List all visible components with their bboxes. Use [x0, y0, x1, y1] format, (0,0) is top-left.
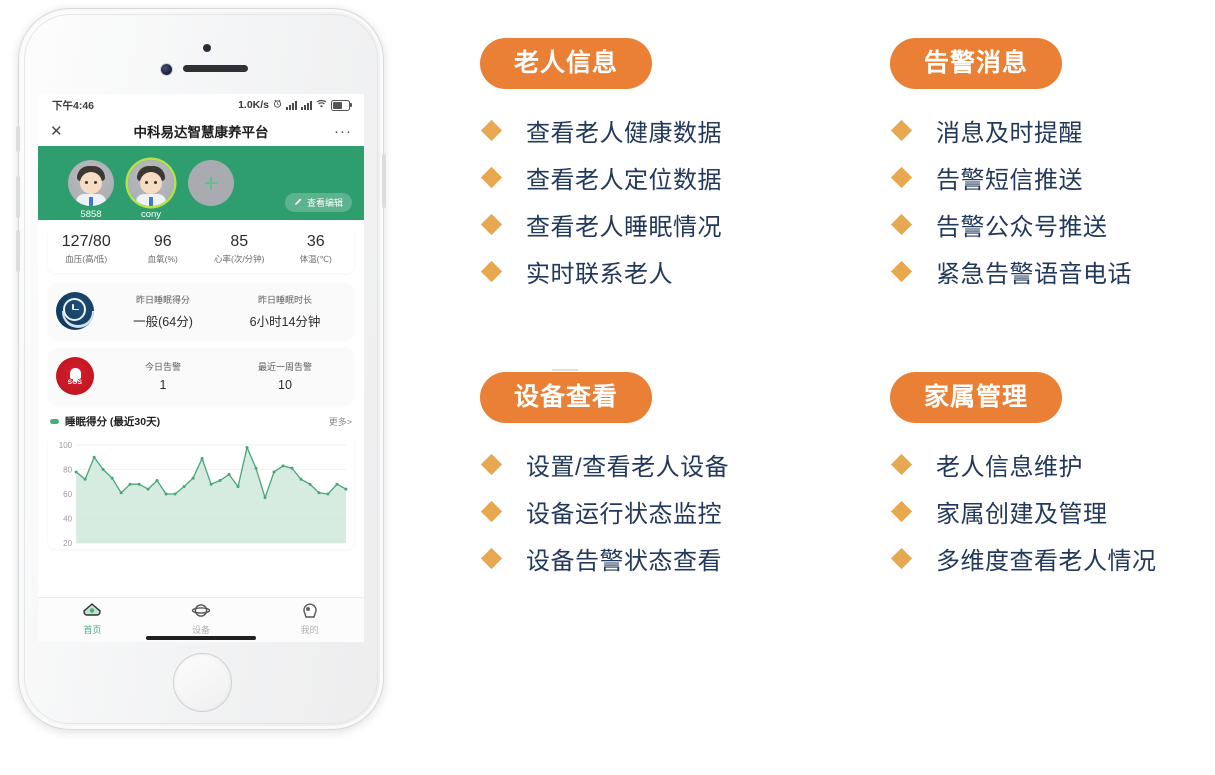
vital-label: 心率(次/分钟)	[201, 253, 278, 265]
diamond-bullet-icon	[481, 167, 502, 188]
list-item[interactable]: 告警短信推送	[890, 154, 1132, 201]
vitals-panel: 127/80 血压(高/低) 96 血氧(%) 85 心率(次/分钟) 36 体…	[48, 225, 354, 273]
status-icons: 1.0K/s	[238, 99, 350, 111]
list-item-label: 实时联系老人	[526, 254, 673, 289]
diamond-bullet-icon	[481, 501, 502, 522]
sos-bell-icon: SOS	[56, 357, 94, 395]
section-bullet-list: 设置/查看老人设备 设备运行状态监控 设备告警状态查看	[480, 441, 729, 582]
power-button[interactable]	[382, 154, 386, 208]
phone-mockup: 下午4:46 1.0K/s ✕ 中科易达智慧康养平台 ···	[18, 8, 384, 730]
volume-down-button[interactable]	[16, 230, 20, 272]
vital-blood-oxygen: 96 血氧(%)	[125, 232, 202, 265]
diamond-bullet-icon	[481, 454, 502, 475]
vital-value: 36	[278, 232, 355, 252]
home-indicator	[146, 636, 256, 640]
profile-item-2[interactable]: cony	[128, 160, 174, 220]
vital-label: 血压(高/低)	[48, 253, 125, 265]
svg-text:60: 60	[63, 490, 72, 499]
list-item[interactable]: 多维度查看老人情况	[890, 535, 1157, 582]
pencil-icon	[294, 197, 303, 208]
list-item-label: 设置/查看老人设备	[526, 447, 729, 482]
section-elderly-info: 老人信息 查看老人健康数据 查看老人定位数据 查看老人睡眠情况 实时联系老人	[480, 38, 722, 295]
status-bar: 下午4:46 1.0K/s	[38, 94, 364, 116]
tab-label: 我的	[301, 625, 319, 635]
list-item-label: 设备运行状态监控	[526, 494, 722, 529]
section-alarm-message: 告警消息 消息及时提醒 告警短信推送 告警公众号推送 紧急告警语音电话	[890, 38, 1132, 295]
battery-icon	[331, 100, 350, 111]
avatar-name: cony	[128, 209, 174, 220]
list-item[interactable]: 查看老人睡眠情况	[480, 201, 722, 248]
sleep-duration-value: 6小时14分钟	[224, 311, 346, 330]
section-title-pill[interactable]: 家属管理	[890, 372, 1062, 423]
section-title-pill[interactable]: 老人信息	[480, 38, 652, 89]
sleep-score-col: 昨日睡眠得分 一般(64分)	[102, 293, 224, 330]
vital-label: 体温(℃)	[278, 253, 355, 265]
alarm-summary-card[interactable]: SOS 今日告警 1 最近一周告警 10	[48, 348, 354, 404]
list-item[interactable]: 设置/查看老人设备	[480, 441, 729, 488]
phone-screen: 下午4:46 1.0K/s ✕ 中科易达智慧康养平台 ···	[38, 94, 364, 642]
tab-profile[interactable]: 我的	[255, 602, 364, 638]
list-item[interactable]: 紧急告警语音电话	[890, 248, 1132, 295]
more-options-icon[interactable]: ···	[330, 123, 352, 140]
tab-label: 首页	[83, 625, 101, 635]
alarm-today-label: 今日告警	[102, 360, 224, 373]
vital-label: 血氧(%)	[125, 253, 202, 265]
section-family-management: 家属管理 老人信息维护 家属创建及管理 多维度查看老人情况	[890, 372, 1157, 582]
view-edit-label: 查看编辑	[307, 196, 343, 209]
list-item[interactable]: 告警公众号推送	[890, 201, 1132, 248]
tab-device[interactable]: 设备	[147, 602, 256, 638]
section-bullet-list: 老人信息维护 家属创建及管理 多维度查看老人情况	[890, 441, 1157, 582]
sleep-score-label: 昨日睡眠得分	[102, 293, 224, 306]
diamond-bullet-icon	[891, 167, 912, 188]
diamond-bullet-icon	[891, 501, 912, 522]
wifi-icon	[316, 99, 327, 111]
decorative-line	[552, 369, 578, 371]
front-camera-icon	[161, 64, 172, 75]
list-item-label: 设备告警状态查看	[526, 541, 722, 576]
list-item[interactable]: 查看老人定位数据	[480, 154, 722, 201]
sleep-duration-col: 昨日睡眠时长 6小时14分钟	[224, 293, 346, 330]
list-item[interactable]: 老人信息维护	[890, 441, 1157, 488]
chart-marker-icon	[50, 419, 59, 424]
diamond-bullet-icon	[891, 454, 912, 475]
svg-text:80: 80	[63, 466, 72, 475]
section-title-pill[interactable]: 设备查看	[480, 372, 652, 423]
diamond-bullet-icon	[481, 120, 502, 141]
sleep-chart[interactable]: 20406080100	[48, 433, 354, 549]
tab-label: 设备	[192, 625, 210, 635]
diamond-bullet-icon	[481, 214, 502, 235]
svg-text:100: 100	[59, 441, 73, 450]
add-profile-item[interactable]: +	[188, 160, 234, 206]
avatar[interactable]	[68, 160, 114, 206]
diamond-bullet-icon	[891, 214, 912, 235]
diamond-bullet-icon	[891, 120, 912, 141]
signal-bars-icon	[286, 101, 297, 110]
svg-text:40: 40	[63, 515, 72, 524]
sleep-chart-header: 睡眠得分 (最近30天) 更多>	[38, 404, 364, 433]
proximity-sensor-icon	[203, 44, 211, 52]
vital-value: 85	[201, 232, 278, 252]
svg-text:20: 20	[63, 539, 72, 548]
sleep-chart-title: 睡眠得分 (最近30天)	[65, 414, 329, 429]
volume-up-button[interactable]	[16, 176, 20, 218]
sleep-score-value: 一般(64分)	[102, 311, 224, 330]
avatar-selected[interactable]	[128, 160, 174, 206]
list-item-label: 告警公众号推送	[936, 207, 1108, 242]
vital-heart-rate: 85 心率(次/分钟)	[201, 232, 278, 265]
tab-home[interactable]: 首页	[38, 602, 147, 638]
profile-item-1[interactable]: 5858	[68, 160, 114, 220]
section-title-pill[interactable]: 告警消息	[890, 38, 1062, 89]
sleep-chart-more-link[interactable]: 更多>	[329, 415, 352, 428]
profile-header: 5858 cony + 查看编辑	[38, 146, 364, 220]
sleep-summary-card[interactable]: 昨日睡眠得分 一般(64分) 昨日睡眠时长 6小时14分钟	[48, 283, 354, 339]
signal-bars-icon-2	[301, 101, 312, 110]
list-item-label: 查看老人健康数据	[526, 113, 722, 148]
vital-temperature: 36 体温(℃)	[278, 232, 355, 265]
device-icon	[191, 602, 211, 619]
plus-icon[interactable]: +	[188, 160, 234, 206]
alarm-today-value: 1	[102, 378, 224, 392]
list-item-label: 查看老人睡眠情况	[526, 207, 722, 242]
vital-value: 127/80	[48, 232, 125, 252]
list-item-label: 老人信息维护	[936, 447, 1083, 482]
list-item-label: 查看老人定位数据	[526, 160, 722, 195]
section-bullet-list: 消息及时提醒 告警短信推送 告警公众号推送 紧急告警语音电话	[890, 107, 1132, 295]
feature-sections: 老人信息 查看老人健康数据 查看老人定位数据 查看老人睡眠情况 实时联系老人 告…	[440, 0, 1215, 775]
section-bullet-list: 查看老人健康数据 查看老人定位数据 查看老人睡眠情况 实时联系老人	[480, 107, 722, 295]
list-item[interactable]: 查看老人健康数据	[480, 107, 722, 154]
avatar-name: 5858	[68, 209, 114, 220]
alarm-week-col: 最近一周告警 10	[224, 360, 346, 392]
list-item-label: 多维度查看老人情况	[936, 541, 1157, 576]
list-item[interactable]: 消息及时提醒	[890, 107, 1132, 154]
alarm-clock-icon	[273, 99, 282, 111]
vital-blood-pressure: 127/80 血压(高/低)	[48, 232, 125, 265]
sleep-chart-svg: 20406080100	[50, 437, 352, 549]
list-item-label: 消息及时提醒	[936, 113, 1083, 148]
alarm-week-value: 10	[224, 378, 346, 392]
diamond-bullet-icon	[481, 548, 502, 569]
profile-icon	[300, 602, 320, 619]
home-button[interactable]	[173, 653, 232, 712]
list-item-label: 紧急告警语音电话	[936, 254, 1132, 289]
list-item-label: 家属创建及管理	[936, 494, 1108, 529]
list-item[interactable]: 家属创建及管理	[890, 488, 1157, 535]
diamond-bullet-icon	[891, 548, 912, 569]
sleep-duration-label: 昨日睡眠时长	[224, 293, 346, 306]
list-item[interactable]: 实时联系老人	[480, 248, 722, 295]
network-speed-label: 1.0K/s	[238, 99, 269, 111]
home-icon	[82, 602, 102, 619]
view-edit-button[interactable]: 查看编辑	[285, 193, 352, 212]
app-nav-bar: ✕ 中科易达智慧康养平台 ···	[38, 116, 364, 146]
section-device-view: 设备查看 设置/查看老人设备 设备运行状态监控 设备告警状态查看	[480, 372, 729, 582]
page-title: 中科易达智慧康养平台	[72, 121, 330, 141]
earpiece-speaker	[183, 65, 248, 72]
silent-switch[interactable]	[16, 126, 20, 152]
alarm-week-label: 最近一周告警	[224, 360, 346, 373]
vital-value: 96	[125, 232, 202, 252]
list-item-label: 告警短信推送	[936, 160, 1083, 195]
close-icon[interactable]: ✕	[50, 124, 72, 139]
diamond-bullet-icon	[891, 261, 912, 282]
diamond-bullet-icon	[481, 261, 502, 282]
status-time: 下午4:46	[52, 98, 94, 113]
moon-clock-icon	[56, 292, 94, 330]
alarm-today-col: 今日告警 1	[102, 360, 224, 392]
list-item[interactable]: 设备告警状态查看	[480, 535, 729, 582]
list-item[interactable]: 设备运行状态监控	[480, 488, 729, 535]
